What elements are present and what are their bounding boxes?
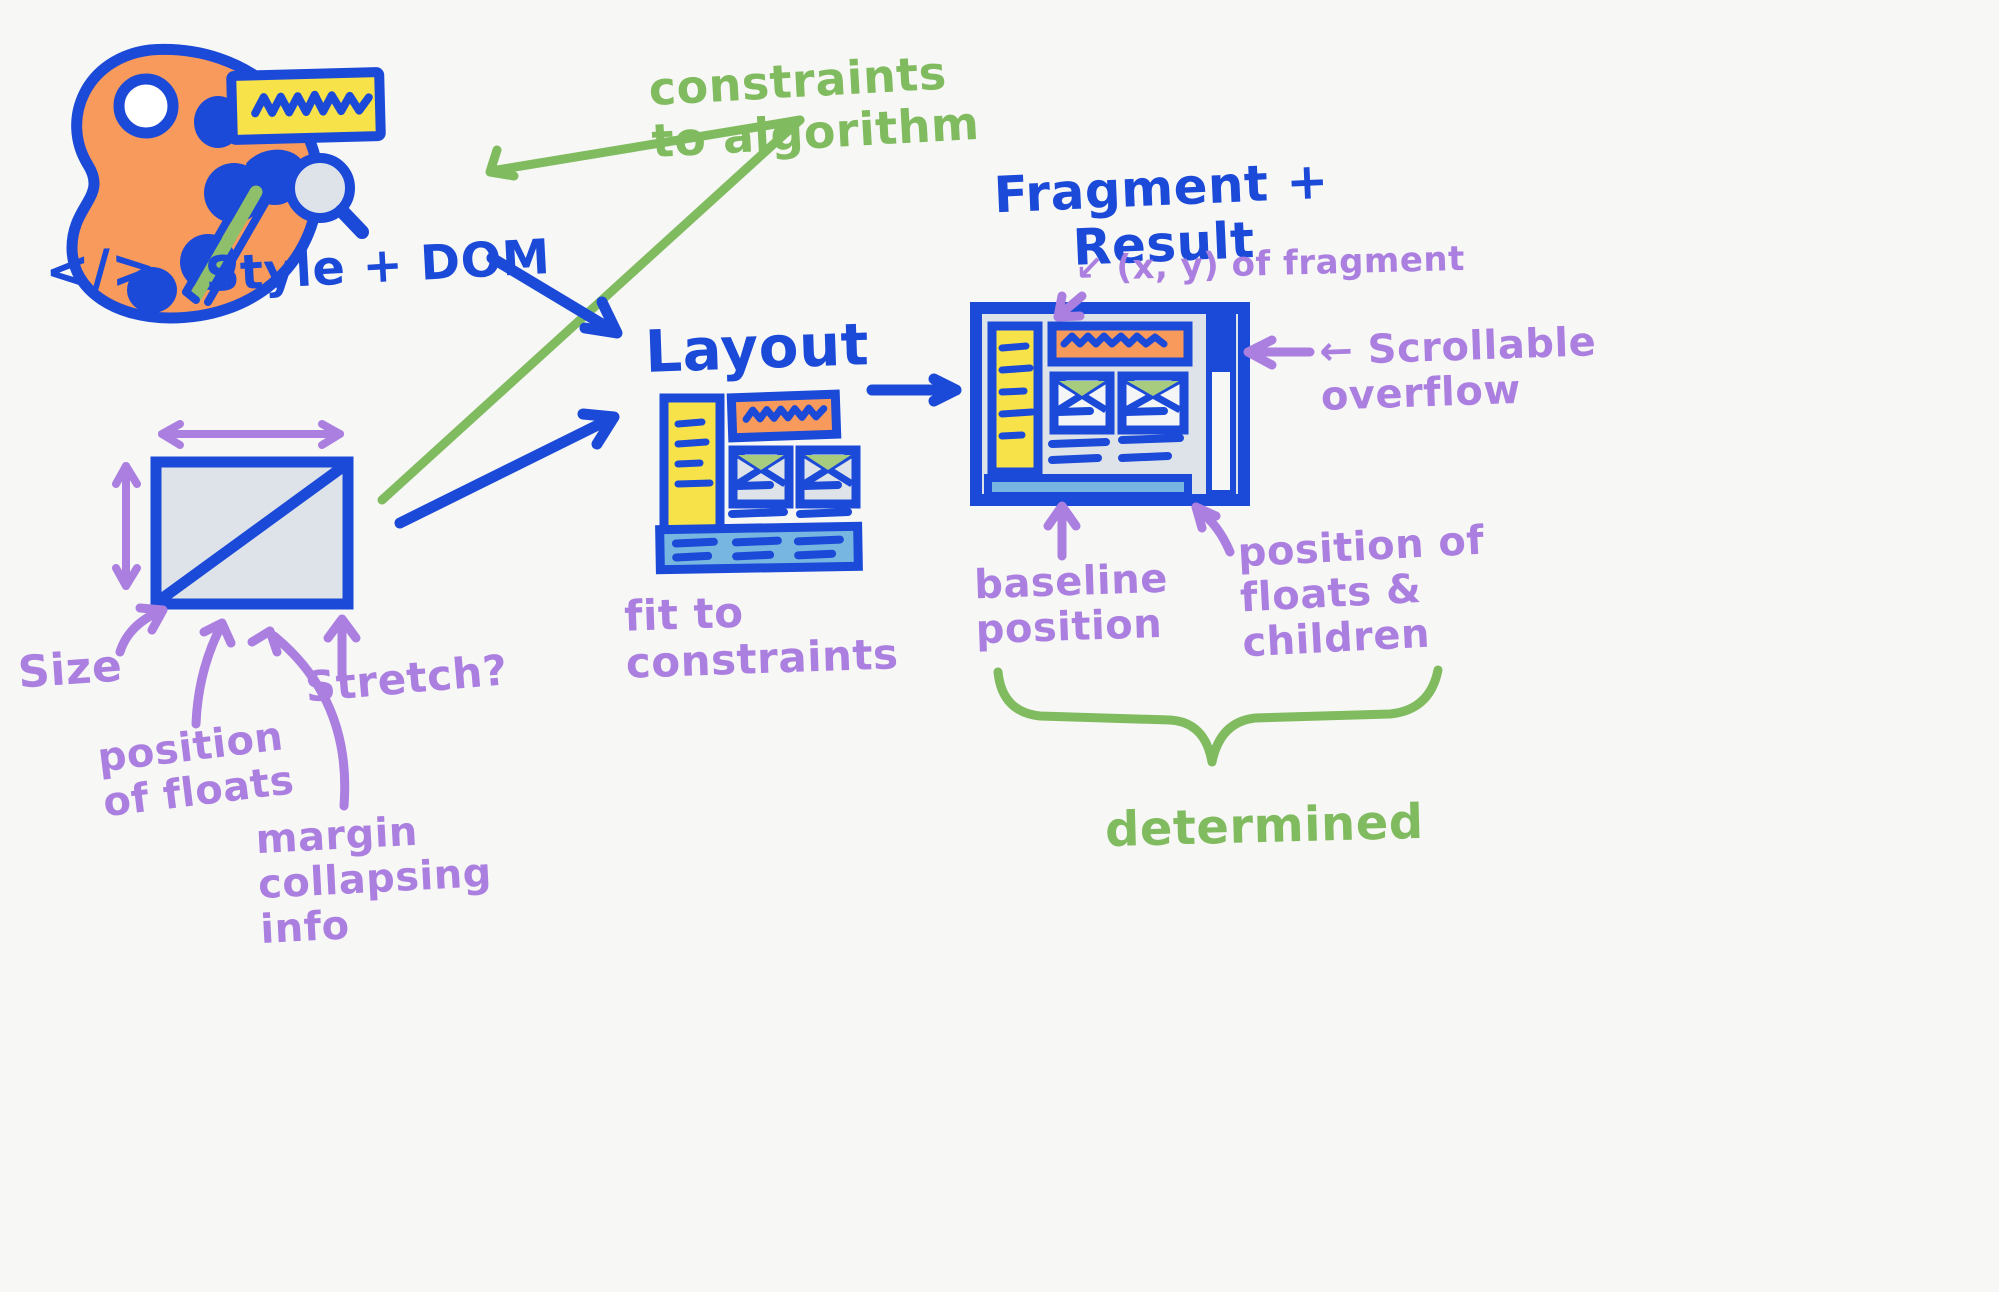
label-size: Size: [16, 641, 123, 697]
yellow-banner-icon: [231, 72, 381, 140]
label-fit-to-constraints: fit to constraints: [623, 583, 899, 687]
label-position-of-floats-children: position of floats & children: [1237, 519, 1490, 666]
code-tag-icon: </>: [44, 238, 158, 302]
constraints-bracket-arrow: [382, 120, 800, 500]
label-constraints-to-algorithm: constraints to algorithm: [647, 46, 980, 167]
diagram-canvas: constraints to algorithm </> Style + DOM…: [0, 0, 1999, 1292]
label-layout: Layout: [644, 312, 870, 385]
arrow-box-to-layout: [400, 414, 614, 523]
arrow-layout-to-result: [872, 379, 956, 401]
determined-brace: [998, 670, 1438, 762]
label-baseline-position: baseline position: [973, 557, 1170, 653]
label-margin-collapsing-info: margin collapsing info: [255, 806, 496, 952]
fragment-result-browser-mockup: [976, 308, 1244, 500]
label-scrollable-overflow: ← Scrollable overflow: [1319, 320, 1599, 419]
layout-browser-mockup: [660, 394, 859, 570]
constraint-box: [116, 424, 348, 604]
label-determined: determined: [1104, 796, 1424, 858]
